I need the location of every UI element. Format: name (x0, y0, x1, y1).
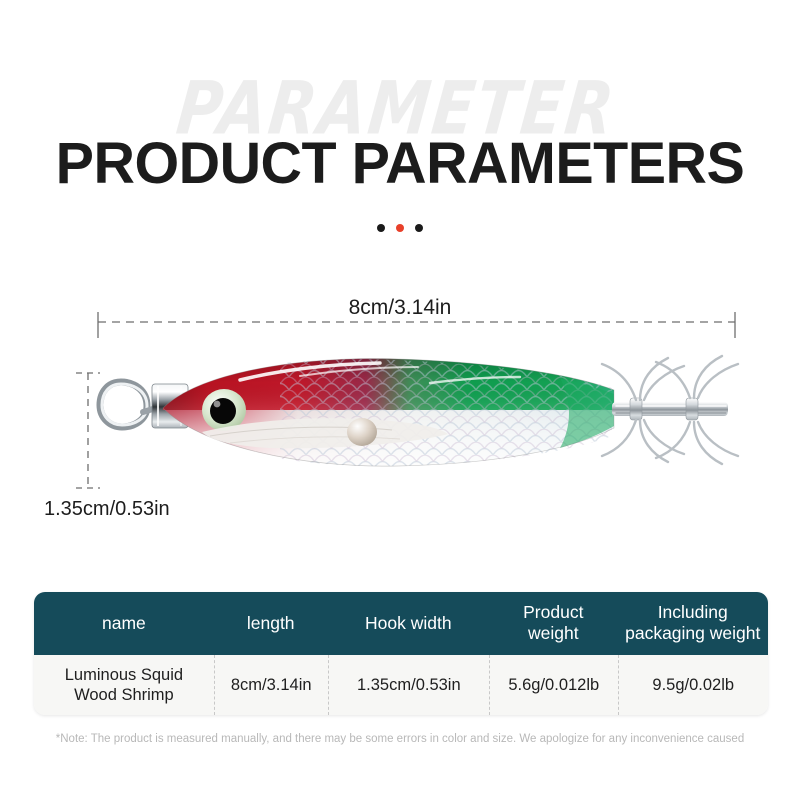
dot-left-icon (377, 224, 385, 232)
column-header-length: length (214, 592, 328, 655)
header-section: PARAMETER PRODUCT PARAMETERS (0, 0, 800, 260)
swivel-loop-icon (100, 382, 160, 427)
dot-right-icon (415, 224, 423, 232)
hook-shaft (612, 398, 728, 420)
height-dimension-line (76, 373, 100, 488)
spec-table: name length Hook width Productweight Inc… (34, 592, 768, 715)
column-header-packaging-weight-text: Includingpackaging weight (625, 602, 760, 645)
column-header-name: name (34, 592, 214, 655)
disclaimer-note: *Note: The product is measured manually,… (0, 733, 800, 745)
cell-product-name: Luminous SquidWood Shrimp (34, 655, 214, 715)
cell-hook-width: 1.35cm/0.53in (328, 655, 489, 715)
product-image (0, 260, 800, 580)
product-illustration-section: 8cm/3.14in 1.35cm/0.53in (0, 260, 800, 580)
column-header-packaging-weight: Includingpackaging weight (618, 592, 768, 655)
page-title: PRODUCT PARAMETERS (4, 134, 796, 195)
column-header-hook-width: Hook width (328, 592, 489, 655)
dot-center-icon (396, 224, 404, 232)
cell-packaging-weight: 9.5g/0.02lb (618, 655, 768, 715)
cell-length: 8cm/3.14in (214, 655, 328, 715)
column-header-product-weight-text: Productweight (523, 602, 583, 645)
squid-jig-hooks (602, 356, 738, 464)
table-row: Luminous SquidWood Shrimp 8cm/3.14in 1.3… (34, 655, 768, 715)
cell-product-weight: 5.6g/0.012lb (489, 655, 617, 715)
length-dimension-line (98, 312, 735, 338)
column-header-product-weight: Productweight (489, 592, 617, 655)
table-header-row: name length Hook width Productweight Inc… (34, 592, 768, 655)
decorative-dots (0, 224, 800, 232)
